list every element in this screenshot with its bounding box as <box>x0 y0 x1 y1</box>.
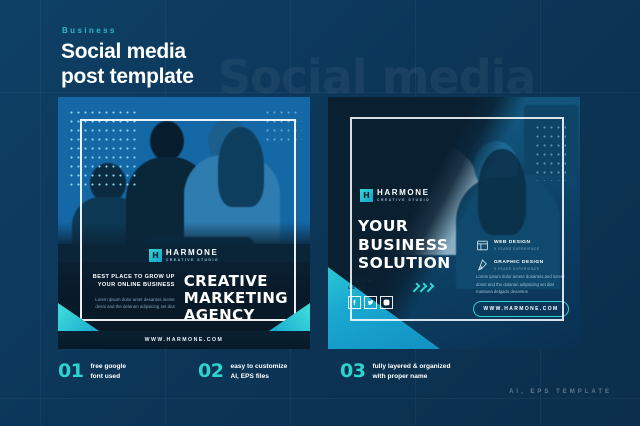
follow-label-line2: US ON <box>348 285 393 291</box>
right-card-lorem: Lorem ipsum dolor amete dosantos and ine… <box>476 273 568 296</box>
feature-text-line1: fully layered & organized <box>372 362 450 372</box>
chevron-arrows-icon <box>413 283 432 292</box>
feature-text: fully layered & organized with proper na… <box>372 362 450 381</box>
browser-icon <box>476 239 489 252</box>
service-name: GRAPHIC DESIGN <box>494 260 544 265</box>
right-card-url-text: WWW.HARMONE.COM <box>483 306 558 312</box>
left-card-dot-pattern-right <box>264 108 302 146</box>
service-name: WEB DESIGN <box>494 240 540 245</box>
service-item: GRAPHIC DESIGN 5 YEARS EXPERIENCE <box>476 259 568 272</box>
feature-item: 03 fully layered & organized with proper… <box>340 362 451 381</box>
instagram-icon[interactable] <box>380 296 393 309</box>
facebook-icon[interactable] <box>348 296 361 309</box>
left-card-text-row: BEST PLACE TO GROW UP YOUR ONLINE BUSINE… <box>92 273 288 323</box>
right-card-title-line2: BUSINESS <box>358 236 451 255</box>
service-item: WEB DESIGN 5 YEARS EXPERIENCE <box>476 239 568 252</box>
follow-us-block: FOLLOW US ON <box>348 278 393 309</box>
brand-mark-icon: H <box>360 189 373 202</box>
feature-text-line2: font used <box>90 372 126 382</box>
service-sub: 5 YEARS EXPERIENCE <box>494 267 544 271</box>
feature-text-line2: with proper name <box>372 372 450 382</box>
right-card-title-line3: SOLUTION <box>358 254 451 273</box>
left-card-lorem: Lorem ipsum dolor amet desantos inerse d… <box>92 296 175 311</box>
left-card-kicker: BEST PLACE TO GROW UP YOUR ONLINE BUSINE… <box>92 273 175 290</box>
left-card-title-line2: MARKETING <box>184 290 288 307</box>
feature-text: free google font used <box>90 362 126 381</box>
poster-stage: Social media Business Social media post … <box>0 0 640 426</box>
brand-name: HARMONE <box>377 189 430 197</box>
right-card-url-button[interactable]: WWW.HARMONE.COM <box>473 301 569 317</box>
feature-text: easy to customize AI, EPS files <box>230 362 287 381</box>
feature-number: 02 <box>198 362 223 381</box>
feature-number: 01 <box>58 362 83 381</box>
page-title: Social media post template <box>61 40 194 89</box>
feature-text-line2: AI, EPS files <box>230 372 287 382</box>
brand-tagline: CREATIVE STUDIO <box>166 259 219 262</box>
post-card-right[interactable]: H HARMONE CREATIVE STUDIO YOUR BUSINESS … <box>328 97 580 349</box>
left-card-url-text: WWW.HARMONE.COM <box>145 337 224 343</box>
post-card-left[interactable]: H HARMONE CREATIVE STUDIO BEST PLACE TO … <box>58 97 310 349</box>
left-card-dot-pattern <box>68 108 140 186</box>
page-title-line1: Social media <box>61 40 194 65</box>
pen-tool-icon <box>476 259 489 272</box>
footnote-text: AI, EPS TEMPLATE <box>509 389 612 395</box>
brand-tagline: CREATIVE STUDIO <box>377 199 430 202</box>
service-sub: 5 YEARS EXPERIENCE <box>494 247 540 251</box>
left-card-title-line1: CREATIVE <box>184 273 288 290</box>
feature-text-line1: free google <box>90 362 126 372</box>
left-card-title: CREATIVE MARKETING AGENCY <box>184 273 288 323</box>
twitter-icon[interactable] <box>364 296 377 309</box>
feature-item: 02 easy to customize AI, EPS files <box>198 362 340 381</box>
right-card-logo: H HARMONE CREATIVE STUDIO <box>360 189 430 202</box>
feature-text-line1: easy to customize <box>230 362 287 372</box>
left-card-title-line3: AGENCY <box>184 307 288 324</box>
feature-number: 03 <box>340 362 365 381</box>
right-card-title-line1: YOUR <box>358 217 451 236</box>
feature-list: 01 free google font used 02 easy to cust… <box>58 362 451 381</box>
left-card-logo: H HARMONE CREATIVE STUDIO <box>58 249 310 262</box>
brand-mark-icon: H <box>149 249 162 262</box>
feature-item: 01 free google font used <box>58 362 198 381</box>
page-title-line2: post template <box>61 65 194 90</box>
left-card-url-bar[interactable]: WWW.HARMONE.COM <box>58 331 310 349</box>
watermark-text: Social media <box>218 50 535 104</box>
eyebrow-label: Business <box>62 26 117 35</box>
brand-name: HARMONE <box>166 249 219 257</box>
social-icons-row <box>348 296 393 309</box>
right-card-title: YOUR BUSINESS SOLUTION <box>358 217 451 273</box>
